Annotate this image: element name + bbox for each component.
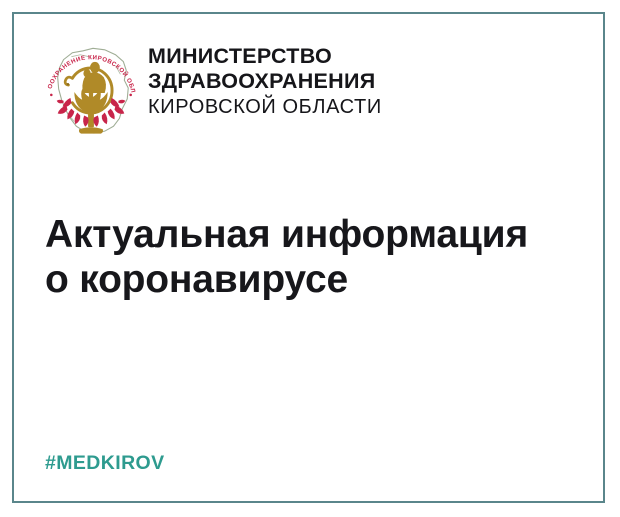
wordmark-line-2: ЗДРАВООХРАНЕНИЯ: [148, 69, 382, 94]
ministry-lockup: ЗДРАВООХРАНЕНИЕ КИРОВСКОЙ ОБЛАСТИ: [42, 40, 382, 140]
hashtag-medkirov: #MEDKIROV: [45, 452, 165, 475]
emblem-figure: [82, 62, 106, 93]
page-title-line-1: Актуальная информация: [45, 212, 528, 257]
ministry-emblem-icon: ЗДРАВООХРАНЕНИЕ КИРОВСКОЙ ОБЛАСТИ: [42, 40, 140, 140]
ministry-wordmark: МИНИСТЕРСТВО ЗДРАВООХРАНЕНИЯ КИРОВСКОЙ О…: [148, 40, 382, 121]
wordmark-line-1: МИНИСТЕРСТВО: [148, 44, 382, 69]
page-title-line-2: о коронавирусе: [45, 257, 528, 302]
wordmark-line-3: КИРОВСКОЙ ОБЛАСТИ: [148, 94, 382, 121]
poster-canvas: ЗДРАВООХРАНЕНИЕ КИРОВСКОЙ ОБЛАСТИ: [0, 0, 620, 517]
page-title: Актуальная информация о коронавирусе: [45, 212, 528, 302]
